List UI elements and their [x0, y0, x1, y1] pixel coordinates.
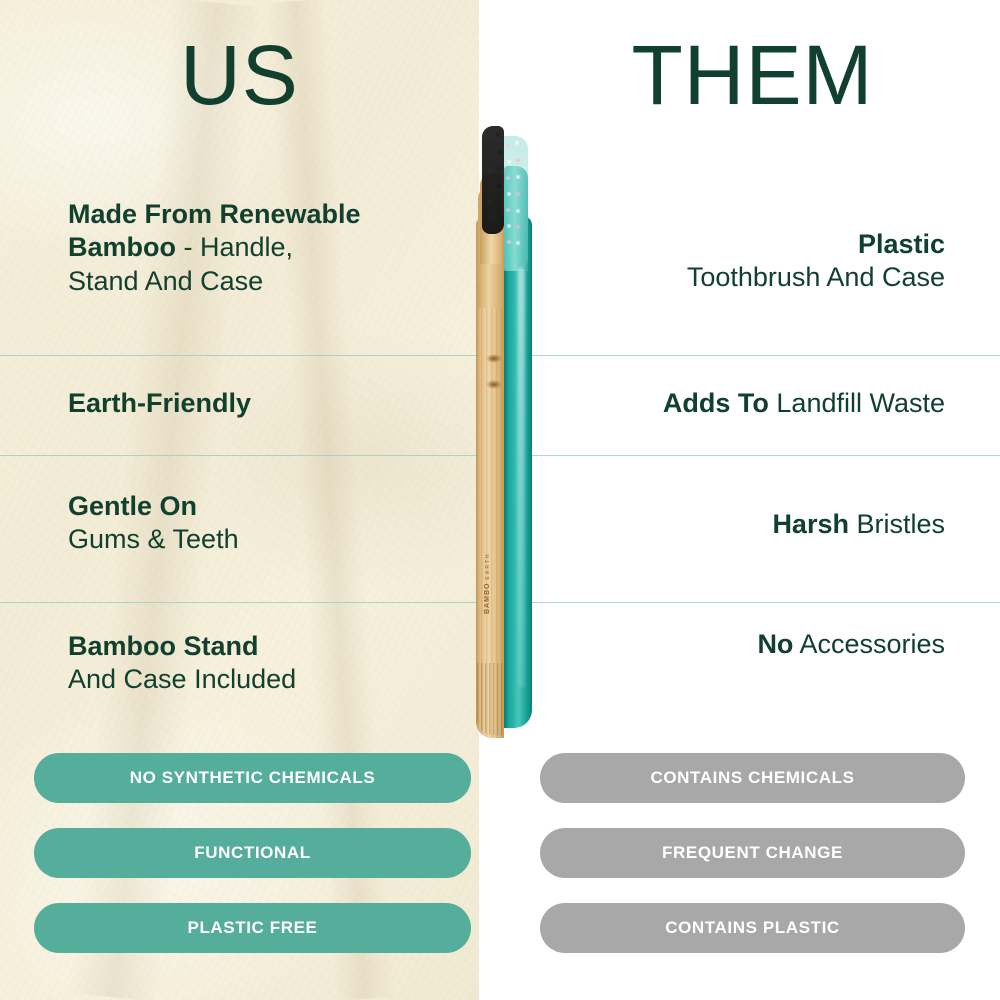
us-feature-1-line3: Stand And Case — [68, 265, 448, 298]
brand-logo-engraving: BAMBO EARTH — [481, 548, 503, 618]
us-feature-1-line1: Made From Renewable — [68, 199, 361, 229]
them-feature-3-light: Bristles — [849, 509, 945, 539]
plastic-toothbrush-half — [504, 118, 532, 738]
bamboo-handle-tip — [477, 663, 504, 735]
us-feature-2-line1: Earth-Friendly — [68, 388, 251, 418]
them-badge-2[interactable]: FREQUENT CHANGE — [540, 828, 965, 878]
charcoal-bristles — [482, 126, 504, 234]
brand-name-line2: EARTH — [485, 552, 491, 583]
them-feature-4-light: Accessories — [793, 629, 945, 659]
them-feature-3: Harsh Bristles — [515, 508, 945, 541]
nylon-bristles — [504, 136, 528, 271]
us-feature-4: Bamboo Stand And Case Included — [68, 630, 448, 697]
them-feature-3-bold: Harsh — [772, 509, 849, 539]
them-feature-4: No Accessories — [515, 628, 945, 661]
us-feature-3-line2: Gums & Teeth — [68, 523, 448, 556]
them-feature-2-light: Landfill Waste — [769, 388, 945, 418]
them-feature-4-bold: No — [757, 629, 793, 659]
us-heading: US — [0, 33, 479, 117]
us-feature-3-line1: Gentle On — [68, 491, 197, 521]
them-feature-1-line1: Plastic — [858, 229, 945, 259]
them-feature-2-bold: Adds To — [663, 388, 769, 418]
us-feature-1-line2-bold: Bamboo — [68, 232, 176, 262]
them-badge-1[interactable]: CONTAINS CHEMICALS — [540, 753, 965, 803]
them-heading: THEM — [500, 33, 1000, 117]
us-feature-3: Gentle On Gums & Teeth — [68, 490, 448, 557]
us-feature-2: Earth-Friendly — [68, 387, 448, 420]
bamboo-node-mark — [486, 380, 502, 389]
us-badge-1[interactable]: NO SYNTHETIC CHEMICALS — [34, 753, 471, 803]
bamboo-toothbrush-half: BAMBO EARTH — [476, 118, 504, 738]
comparison-infographic: US THEM Made From Renewable Bamboo - Han… — [0, 0, 1000, 1000]
them-badge-3[interactable]: CONTAINS PLASTIC — [540, 903, 965, 953]
us-badge-3[interactable]: PLASTIC FREE — [34, 903, 471, 953]
us-feature-4-line1: Bamboo Stand — [68, 631, 259, 661]
them-feature-1: Plastic Toothbrush And Case — [515, 228, 945, 295]
us-badge-2[interactable]: FUNCTIONAL — [34, 828, 471, 878]
us-feature-4-line2: And Case Included — [68, 663, 448, 696]
us-feature-1-line2-light: - Handle, — [176, 232, 293, 262]
bamboo-node-mark — [486, 354, 502, 363]
them-feature-1-line2: Toothbrush And Case — [515, 261, 945, 294]
brand-name-line1: BAMBO — [484, 583, 491, 614]
plastic-gloss-highlight — [518, 268, 525, 688]
split-toothbrush-image: BAMBO EARTH — [476, 118, 532, 738]
handle-seam-shadow — [504, 216, 509, 728]
them-feature-2: Adds To Landfill Waste — [515, 387, 945, 420]
us-feature-1: Made From Renewable Bamboo - Handle, Sta… — [68, 198, 448, 298]
